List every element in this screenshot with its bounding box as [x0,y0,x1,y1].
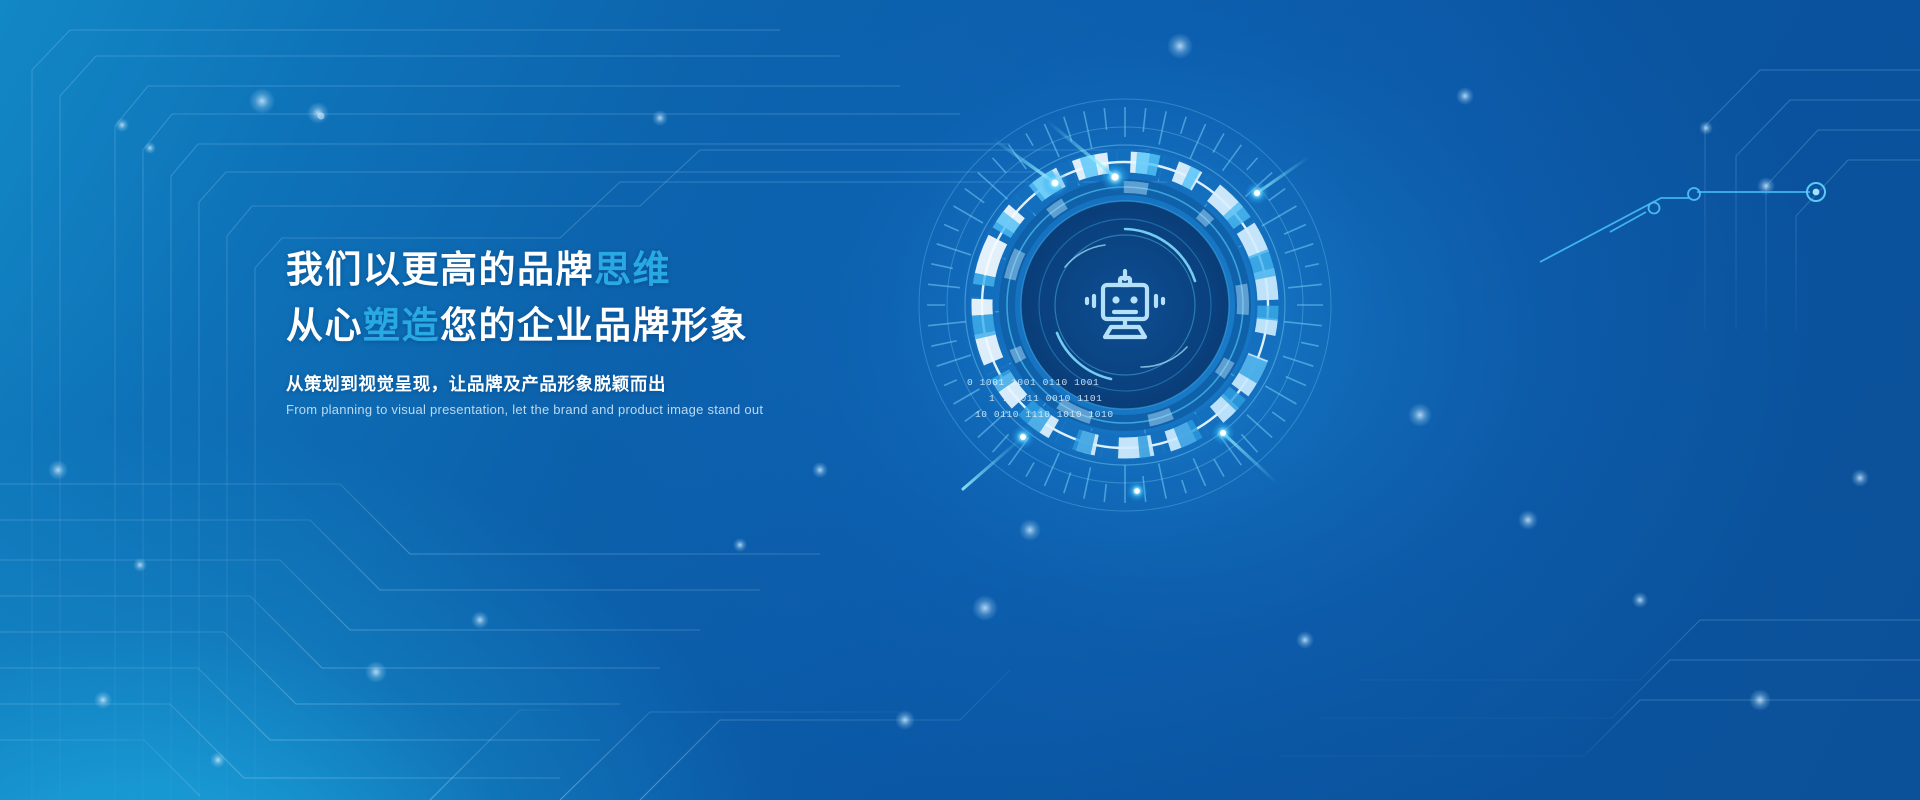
connector-path [1540,192,1810,262]
headline-line-2: 从心塑造您的企业品牌形象 [286,302,1046,349]
connector-node-end-outer [1807,183,1825,201]
hero-banner: 0 1001 1001 0110 1001 1 : 1011 0010 1101… [0,0,1920,800]
robot-icon [1087,271,1163,337]
trace-group-bottom-left [0,484,1010,800]
subtitle-chinese: 从策划到视觉呈现，让品牌及产品形象脱颖而出 [286,372,1046,397]
headline-line-1: 我们以更高的品牌思维 [286,246,1046,293]
connector-node-small-2 [1649,203,1660,214]
connector-node-end-inner [1813,189,1820,196]
core-arcs [1057,229,1195,379]
headline-line-1-prefix: 我们以更高的品牌 [286,249,594,290]
headline-line-2-prefix: 从心 [286,305,363,346]
hero-copy: 我们以更高的品牌思维 从心塑造您的企业品牌形象 从策划到视觉呈现，让品牌及产品形… [286,246,1046,419]
subtitle-english: From planning to visual presentation, le… [286,400,1046,419]
trace-group-bottom-right [1280,620,1920,756]
ring-core [1021,201,1229,409]
headline-line-2-accent: 塑造 [363,305,440,346]
headline-line-2-suffix: 您的企业品牌形象 [440,305,748,346]
trace-group-top-right [1705,70,1920,330]
headline-line-1-accent: 思维 [594,249,671,290]
connector-node-small-1 [1688,188,1700,200]
